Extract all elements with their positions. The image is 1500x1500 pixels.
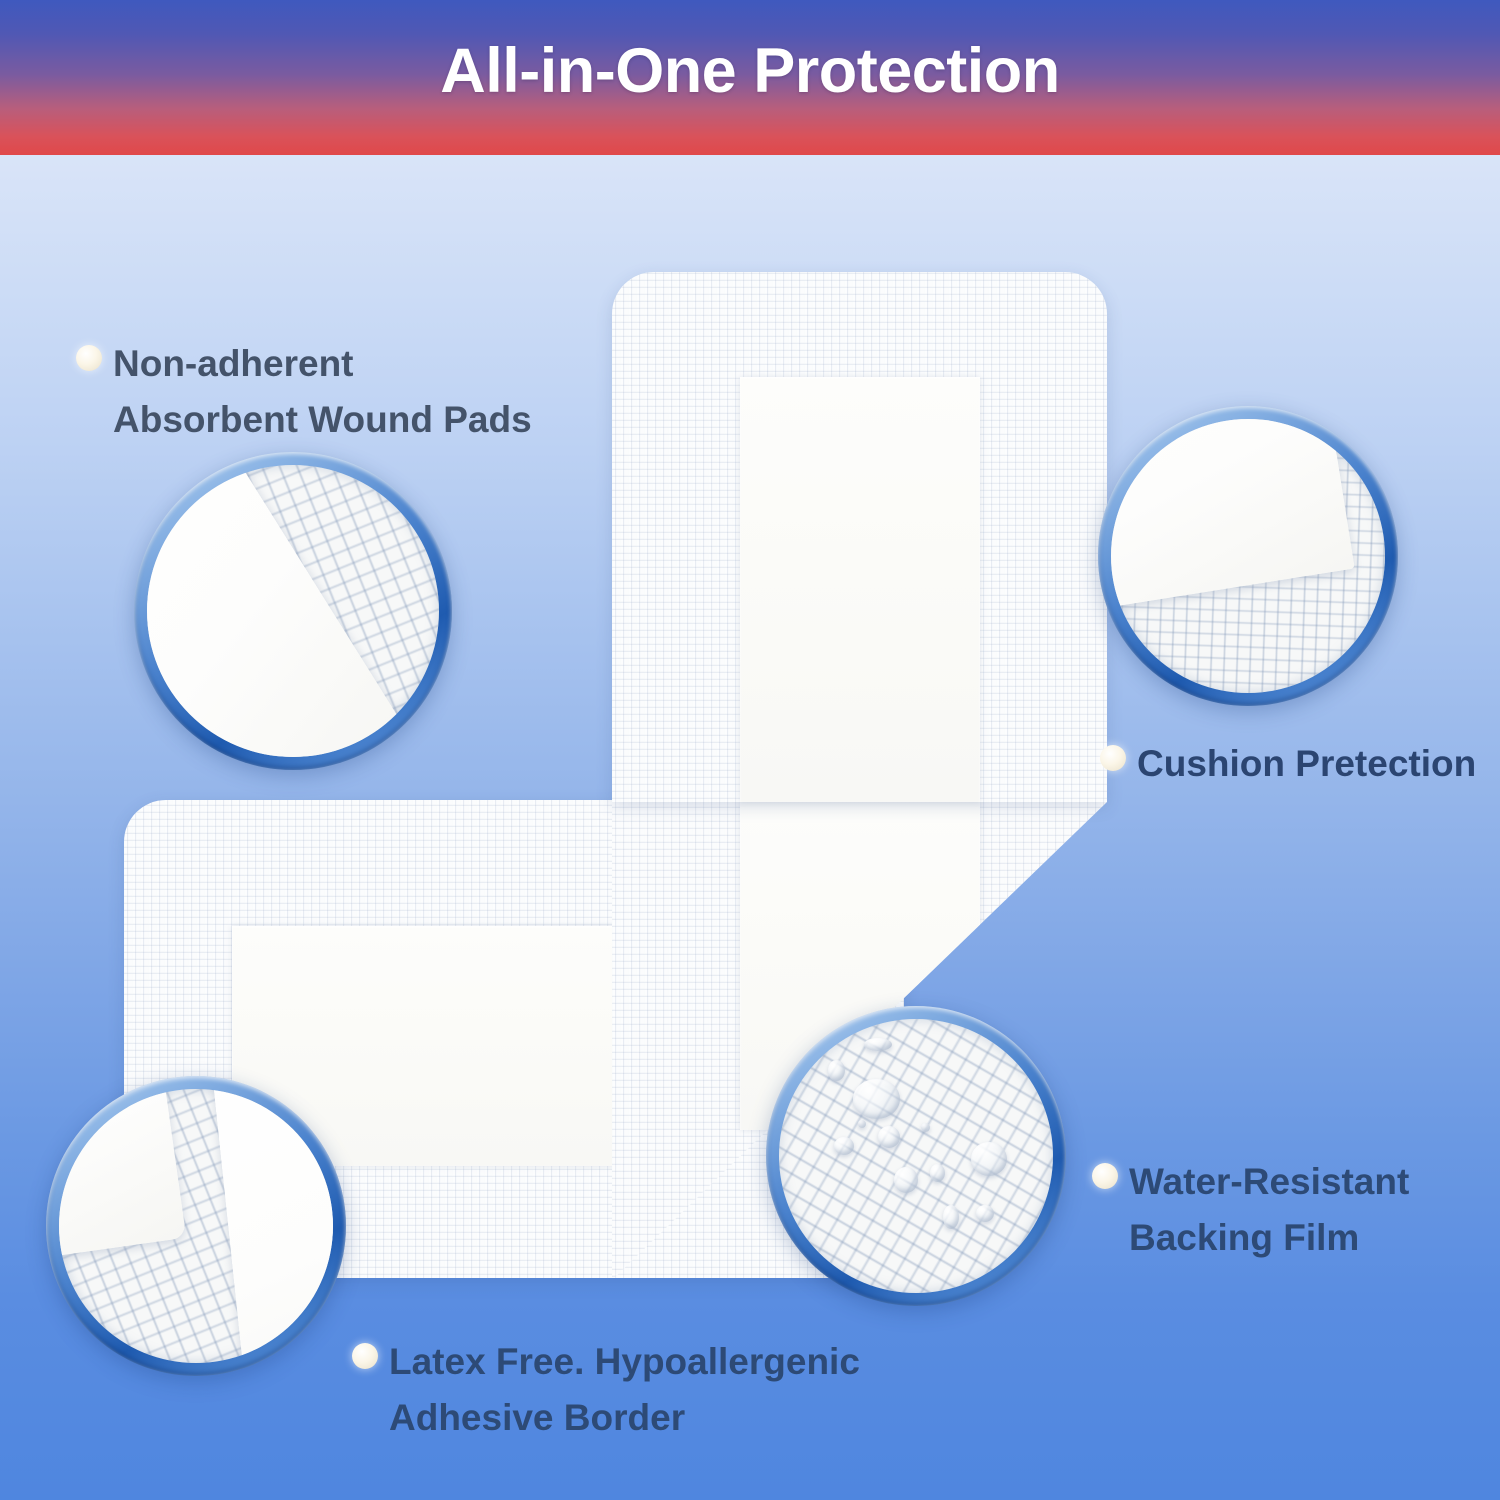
page-title: All-in-One Protection: [440, 40, 1060, 103]
water-droplet: [894, 1167, 918, 1193]
closeup-image: [779, 1019, 1053, 1293]
feature-adhesive-border-label: Latex Free. Hypoallergenic Adhesive Bord…: [389, 1334, 860, 1446]
closeup-image: [59, 1089, 333, 1363]
water-droplet: [878, 1126, 900, 1148]
water-droplet: [930, 1164, 945, 1182]
water-droplet: [853, 1079, 900, 1119]
infographic-canvas: All-in-One Protection: [0, 0, 1500, 1500]
bullet-dot-icon: [76, 345, 102, 371]
bullet-dot-icon: [1100, 745, 1126, 771]
water-droplets-closeup-circle: [766, 1006, 1066, 1306]
feature-cushion: Cushion Pretection: [1100, 736, 1500, 792]
bullet-dot-icon: [1092, 1163, 1118, 1189]
absorbent-wound-pad: [740, 377, 980, 802]
header-banner: All-in-One Protection: [0, 0, 1500, 155]
feature-cushion-label: Cushion Pretection: [1137, 736, 1476, 792]
closeup-image: [147, 465, 439, 757]
bullet-dot-icon: [352, 1343, 378, 1369]
feature-adhesive-border: Latex Free. Hypoallergenic Adhesive Bord…: [352, 1334, 972, 1446]
water-droplet: [834, 1137, 854, 1155]
wound-pad-closeup-circle: [134, 452, 452, 770]
adhesive-border-closeup-circle: [46, 1076, 346, 1376]
closeup-image: [1111, 419, 1385, 693]
feature-wound-pads: Non-adherent Absorbent Wound Pads: [76, 336, 636, 448]
water-droplet: [971, 1142, 1007, 1176]
vertical-strip-bandage: [612, 272, 1107, 802]
feature-water-resistant-label: Water-Resistant Backing Film: [1129, 1154, 1409, 1266]
cushion-closeup-circle: [1098, 406, 1398, 706]
pad-corner-overlay: [59, 1089, 186, 1266]
feature-water-resistant: Water-Resistant Backing Film: [1092, 1154, 1492, 1266]
feature-wound-pads-label: Non-adherent Absorbent Wound Pads: [113, 336, 532, 448]
nonwoven-texture: [779, 1019, 1053, 1293]
